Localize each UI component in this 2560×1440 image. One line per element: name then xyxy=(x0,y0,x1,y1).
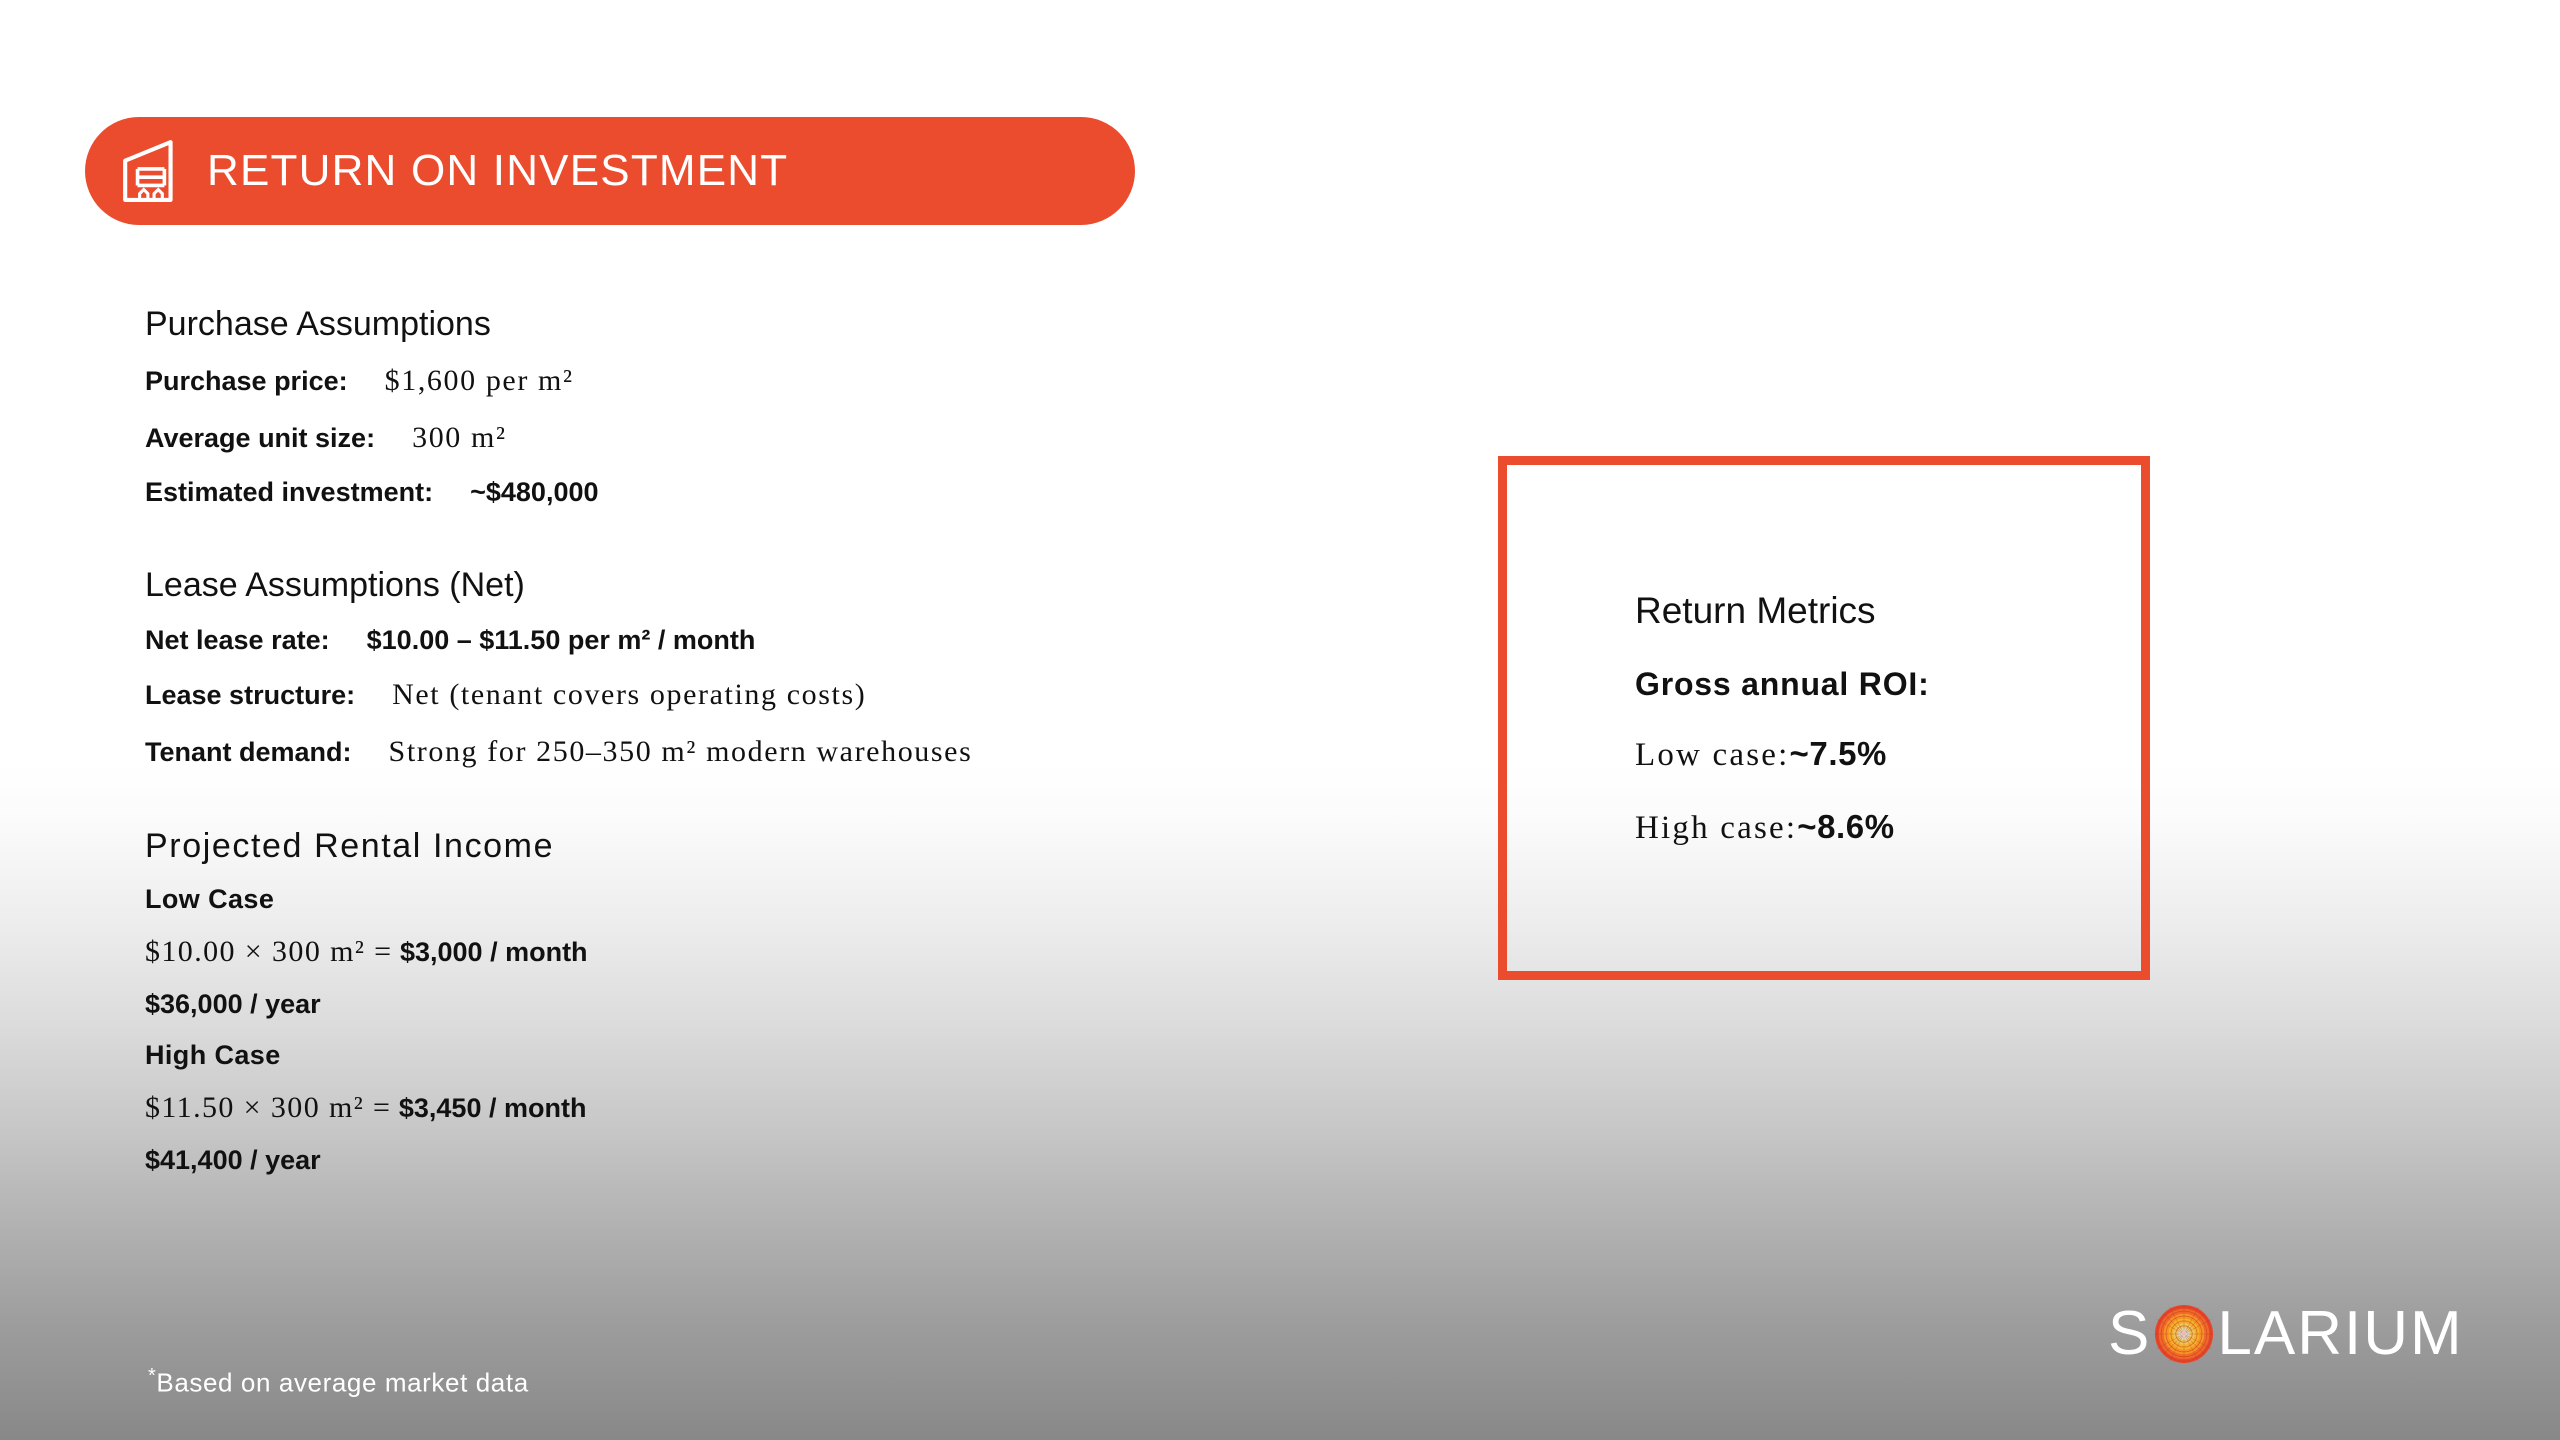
tenant-demand-label: Tenant demand: xyxy=(145,737,352,767)
low-case-label: Low Case xyxy=(145,884,1395,915)
high-case-roi-label: High case: xyxy=(1635,810,1797,846)
purchase-assumptions-heading: Purchase Assumptions xyxy=(145,305,1395,344)
low-case-roi-value: ~7.5% xyxy=(1790,735,1888,772)
footnote: *Based on average market data xyxy=(148,1365,529,1399)
estimated-investment-row: Estimated investment: ~$480,000 xyxy=(145,477,1395,508)
lease-structure-row: Lease structure: Net (tenant covers oper… xyxy=(145,678,1395,713)
high-case-roi-row: High case:~8.6% xyxy=(1635,808,2135,847)
high-case-roi-value: ~8.6% xyxy=(1797,808,1895,845)
slide-canvas: RETURN ON INVESTMENT Purchase Assumption… xyxy=(0,0,2560,1440)
estimated-investment-label: Estimated investment: xyxy=(145,477,433,507)
lease-assumptions-section: Lease Assumptions (Net) Net lease rate: … xyxy=(145,566,1395,769)
solarium-logo: S xyxy=(2108,1302,2464,1366)
logo-letters-larium: LARIUM xyxy=(2217,1303,2463,1365)
slide-title-banner: RETURN ON INVESTMENT xyxy=(85,117,1135,225)
purchase-price-label: Purchase price: xyxy=(145,366,348,396)
net-lease-rate-label: Net lease rate: xyxy=(145,625,330,655)
estimated-investment-value: ~$480,000 xyxy=(470,477,598,507)
lease-assumptions-heading: Lease Assumptions (Net) xyxy=(145,566,1395,605)
high-case-expression: $11.50 × 300 m² = xyxy=(145,1091,391,1124)
footnote-text: Based on average market data xyxy=(156,1368,528,1398)
low-case-roi-label: Low case: xyxy=(1635,737,1790,773)
gross-annual-roi-label: Gross annual ROI: xyxy=(1635,666,2135,703)
average-unit-size-row: Average unit size: 300 m² xyxy=(145,421,1395,456)
high-case-label: High Case xyxy=(145,1040,1395,1071)
warehouse-icon xyxy=(119,138,185,204)
tenant-demand-value: Strong for 250–350 m² modern warehouses xyxy=(389,735,973,768)
net-lease-rate-value: $10.00 – $11.50 per m² / month xyxy=(367,625,756,655)
low-case-annual: $36,000 / year xyxy=(145,989,1395,1020)
page-title: RETURN ON INVESTMENT xyxy=(207,146,788,196)
high-case-monthly: $3,450 / month xyxy=(399,1093,587,1123)
lease-structure-label: Lease structure: xyxy=(145,680,355,710)
left-content-column: Purchase Assumptions Purchase price: $1,… xyxy=(145,305,1395,1196)
low-case-roi-row: Low case:~7.5% xyxy=(1635,735,2135,774)
high-case-annual: $41,400 / year xyxy=(145,1145,1395,1176)
net-lease-rate-row: Net lease rate: $10.00 – $11.50 per m² /… xyxy=(145,625,1395,656)
section-divider xyxy=(145,791,1395,827)
return-metrics-box: Return Metrics Gross annual ROI: Low cas… xyxy=(1498,456,2150,980)
purchase-price-row: Purchase price: $1,600 per m² xyxy=(145,364,1395,399)
projected-rental-income-heading: Projected Rental Income xyxy=(145,827,1395,866)
purchase-price-value: $1,600 per m² xyxy=(385,364,574,397)
lease-structure-value: Net (tenant covers operating costs) xyxy=(392,678,866,711)
purchase-assumptions-section: Purchase Assumptions Purchase price: $1,… xyxy=(145,305,1395,508)
average-unit-size-label: Average unit size: xyxy=(145,423,375,453)
return-metrics-title: Return Metrics xyxy=(1635,590,2135,632)
section-divider xyxy=(145,530,1395,566)
high-case-calculation-row: $11.50 × 300 m² = $3,450 / month xyxy=(145,1091,1395,1125)
sun-icon xyxy=(2153,1303,2215,1365)
logo-letter-s: S xyxy=(2108,1303,2151,1365)
low-case-expression: $10.00 × 300 m² = xyxy=(145,935,392,968)
low-case-calculation-row: $10.00 × 300 m² = $3,000 / month xyxy=(145,935,1395,969)
average-unit-size-value: 300 m² xyxy=(412,421,506,454)
tenant-demand-row: Tenant demand: Strong for 250–350 m² mod… xyxy=(145,735,1395,770)
low-case-monthly: $3,000 / month xyxy=(400,937,588,967)
projected-rental-income-section: Projected Rental Income Low Case $10.00 … xyxy=(145,827,1395,1176)
return-metrics-content: Return Metrics Gross annual ROI: Low cas… xyxy=(1635,590,2135,881)
